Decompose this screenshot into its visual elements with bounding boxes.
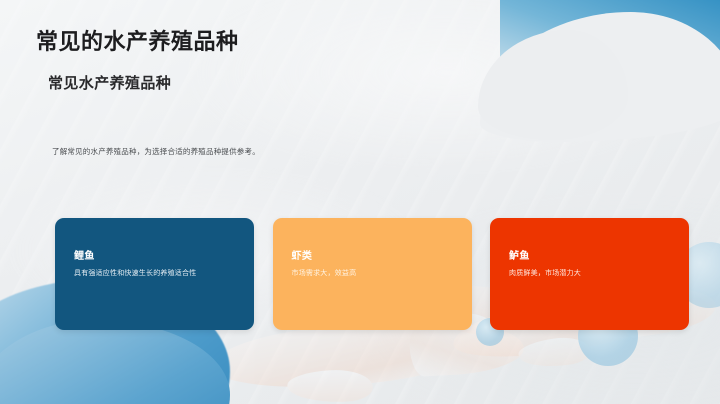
species-card-title: 虾类	[292, 247, 313, 262]
species-card-description: 市场需求大，效益高	[292, 269, 460, 280]
intro-paragraph: 了解常见的水产养殖品种，为选择合适的养殖品种提供参考。	[52, 145, 292, 159]
slide-content: 常见的水产养殖品种 常见水产养殖品种 了解常见的水产养殖品种，为选择合适的养殖品…	[0, 0, 720, 404]
species-card-carp[interactable]: 鲤鱼 具有强适应性和快速生长的养殖适合性	[55, 218, 254, 330]
species-card-title: 鲈鱼	[509, 247, 530, 262]
page-title: 常见的水产养殖品种	[36, 24, 239, 56]
species-card-description: 具有强适应性和快速生长的养殖适合性	[74, 269, 242, 280]
species-card-list: 鲤鱼 具有强适应性和快速生长的养殖适合性 虾类 市场需求大，效益高 鲈鱼 肉质鲜…	[55, 218, 689, 330]
page-subtitle: 常见水产养殖品种	[48, 72, 171, 93]
species-card-description: 肉质鲜美，市场潜力大	[509, 269, 677, 280]
slide-canvas: 常见的水产养殖品种 常见水产养殖品种 了解常见的水产养殖品种，为选择合适的养殖品…	[0, 0, 720, 404]
species-card-title: 鲤鱼	[74, 247, 95, 262]
species-card-perch[interactable]: 鲈鱼 肉质鲜美，市场潜力大	[490, 218, 689, 330]
species-card-shrimp[interactable]: 虾类 市场需求大，效益高	[273, 218, 472, 330]
